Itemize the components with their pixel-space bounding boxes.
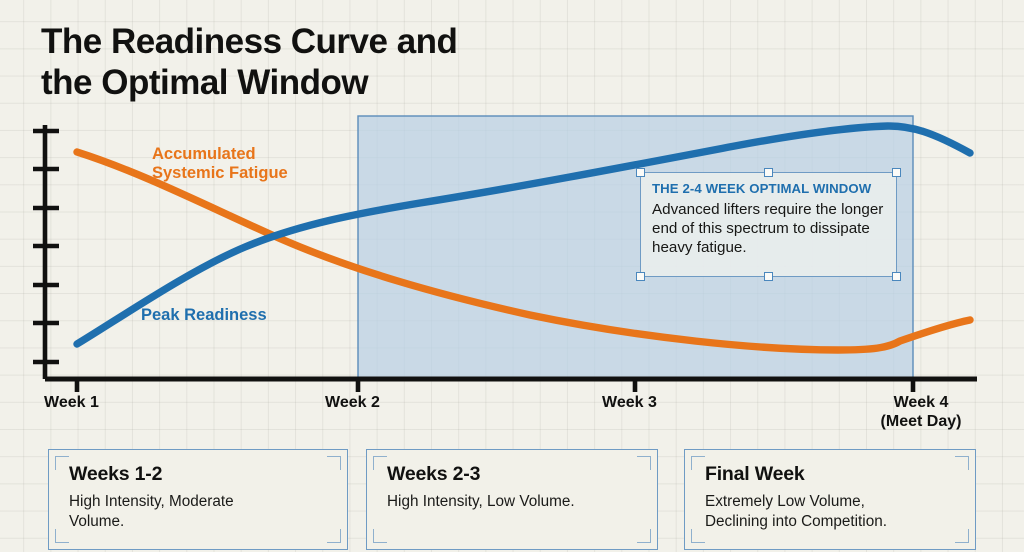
corner-bracket-bottom-left [373, 529, 387, 543]
selection-handle-top-left[interactable] [636, 168, 645, 177]
corner-bracket-top-right [637, 456, 651, 470]
callout-heading: THE 2-4 WEEK OPTIMAL WINDOW [652, 181, 885, 197]
phase-card-title: Weeks 2-3 [387, 464, 639, 485]
phase-card-title: Final Week [705, 464, 957, 485]
x-tick-label-week-3: Week 3 [602, 394, 657, 413]
corner-bracket-bottom-left [55, 529, 69, 543]
corner-bracket-top-left [691, 456, 705, 470]
x-tick-label-week-1: Week 1 [44, 394, 99, 413]
phase-card-body: Extremely Low Volume, Declining into Com… [705, 492, 957, 531]
phase-card-body: High Intensity, Moderate Volume. [69, 492, 329, 531]
selection-handle-bottom-right[interactable] [892, 272, 901, 281]
optimal-window-callout[interactable]: THE 2-4 WEEK OPTIMAL WINDOW Advanced lif… [640, 172, 897, 277]
x-tick-label-week-2: Week 2 [325, 394, 380, 413]
corner-bracket-bottom-right [955, 529, 969, 543]
x-tick-label-week-4: Week 4 (Meet Day) [874, 394, 968, 432]
corner-bracket-top-left [55, 456, 69, 470]
corner-bracket-top-right [955, 456, 969, 470]
corner-bracket-bottom-right [327, 529, 341, 543]
corner-bracket-top-right [327, 456, 341, 470]
selection-handle-bottom-left[interactable] [636, 272, 645, 281]
corner-bracket-bottom-right [637, 529, 651, 543]
infographic-canvas: The Readiness Curve and the Optimal Wind… [0, 0, 1024, 552]
selection-handle-top-middle[interactable] [764, 168, 773, 177]
selection-handle-bottom-middle[interactable] [764, 272, 773, 281]
phase-card-weeks-1-2[interactable]: Weeks 1-2 High Intensity, Moderate Volum… [48, 449, 348, 550]
phase-card-title: Weeks 1-2 [69, 464, 329, 485]
phase-card-weeks-2-3[interactable]: Weeks 2-3 High Intensity, Low Volume. [366, 449, 658, 550]
phase-card-body: High Intensity, Low Volume. [387, 492, 639, 512]
corner-bracket-bottom-left [691, 529, 705, 543]
selection-handle-top-right[interactable] [892, 168, 901, 177]
corner-bracket-top-left [373, 456, 387, 470]
phase-card-final-week[interactable]: Final Week Extremely Low Volume, Declini… [684, 449, 976, 550]
series-label-peak-readiness: Peak Readiness [141, 306, 267, 325]
series-label-accumulated-systemic-fatigue: Accumulated Systemic Fatigue [152, 145, 288, 183]
callout-body: Advanced lifters require the longer end … [652, 200, 885, 257]
